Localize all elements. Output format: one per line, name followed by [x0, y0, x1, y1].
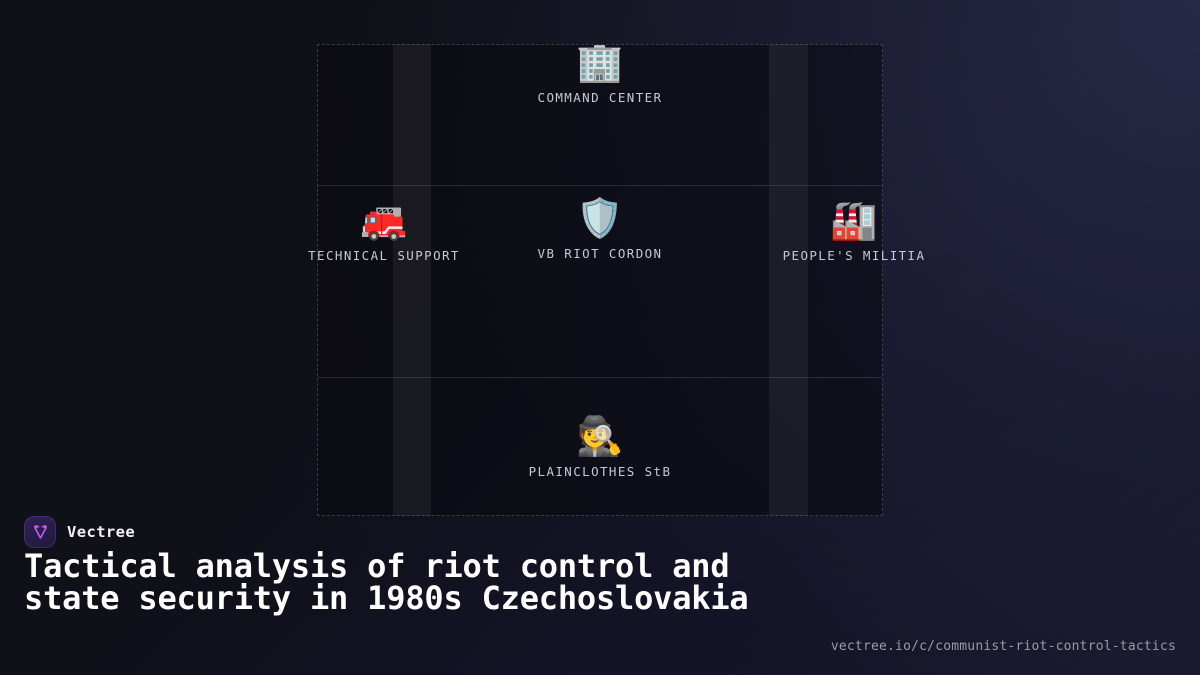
column-band-left [393, 44, 431, 516]
vectree-v-logo-icon [24, 516, 56, 548]
slide-canvas: 🏢 COMMAND CENTER 🚒 TECHNICAL SUPPORT 🛡️ … [0, 0, 1200, 675]
node-command-center[interactable]: 🏢 COMMAND CENTER [470, 40, 730, 105]
page-title: Tactical analysis of riot control and st… [24, 550, 784, 614]
node-peoples-militia[interactable]: 🏭 PEOPLE'S MILITIA [724, 198, 984, 263]
brand-lockup[interactable]: Vectree [24, 516, 135, 548]
shield-icon: 🛡️ [470, 196, 730, 240]
column-band-right [769, 44, 808, 516]
node-label: COMMAND CENTER [470, 90, 730, 105]
office-building-icon: 🏢 [470, 40, 730, 84]
brand-name: Vectree [67, 523, 135, 541]
source-url: vectree.io/c/communist-riot-control-tact… [831, 639, 1176, 654]
detective-icon: 🕵️ [470, 414, 730, 458]
row-divider-bottom [318, 377, 882, 378]
node-label: VB RIOT CORDON [470, 246, 730, 261]
node-label: PEOPLE'S MILITIA [724, 248, 984, 263]
node-vb-riot-cordon[interactable]: 🛡️ VB RIOT CORDON [470, 196, 730, 261]
factory-icon: 🏭 [724, 198, 984, 242]
node-plainclothes-stb[interactable]: 🕵️ PLAINCLOTHES StB [470, 414, 730, 479]
node-label: PLAINCLOTHES StB [470, 464, 730, 479]
footer: Vectree Tactical analysis of riot contro… [0, 505, 1200, 675]
row-divider-top [318, 185, 882, 186]
